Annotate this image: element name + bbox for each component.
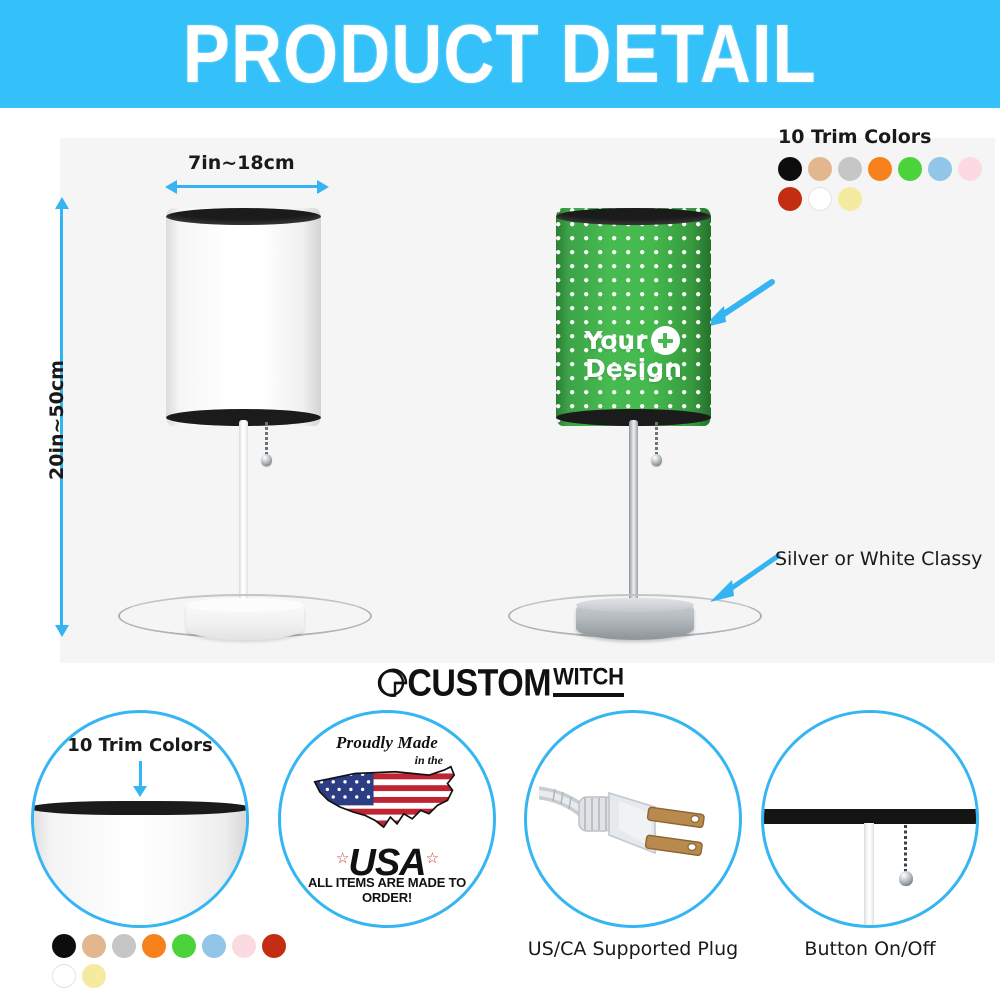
feature-plug: US/CA Supported Plug (518, 710, 748, 960)
height-dimension-label: 20in~50cm (46, 360, 68, 480)
feature-plug-caption: US/CA Supported Plug (518, 938, 748, 960)
bottom-swatch-dark-red[interactable] (262, 934, 286, 958)
trim-closeup-black-trim (31, 801, 249, 815)
pull-chain-ball-icon[interactable] (899, 871, 913, 886)
lamp-green-pull-chain[interactable] (655, 422, 658, 457)
lamp-green-design-line2: Design (556, 356, 711, 382)
product-detail-page: PRODUCT DETAIL 10 Trim Colors (0, 0, 1000, 1000)
bottom-swatch-black[interactable] (52, 934, 76, 958)
feature-made-in-usa-circle: Proudly Made in the (278, 710, 496, 928)
swatch-yellow[interactable] (838, 187, 862, 211)
brand-logo: CUSTOM WITCH (0, 660, 1000, 706)
swatch-dark-red[interactable] (778, 187, 802, 211)
feature-plug-circle (524, 710, 742, 928)
usa-flag-map-icon (303, 759, 471, 845)
swatch-light-blue[interactable] (928, 157, 952, 181)
swatch-green[interactable] (898, 157, 922, 181)
feature-made-in-usa: Proudly Made in the (272, 710, 502, 928)
feature-switch-caption: Button On/Off (755, 938, 985, 960)
brand-logo-primary: CUSTOM (407, 661, 551, 705)
feature-trim-colors-circle: 10 Trim Colors (31, 710, 249, 928)
usa-badge-line4: ALL ITEMS ARE MADE TO ORDER! (297, 875, 477, 905)
design-line1-text: Your (584, 326, 647, 355)
switch-closeup-black-trim (761, 809, 979, 824)
switch-closeup-pole (864, 823, 874, 928)
main-scene: 10 Trim Colors (0, 108, 1000, 660)
lamp-green-base-top (576, 598, 694, 612)
usa-badge: Proudly Made in the (297, 733, 477, 911)
brand-logo-secondary-wrap: WITCH (553, 664, 624, 697)
brand-logo-underline (553, 693, 624, 697)
trim-closeup-label: 10 Trim Colors (34, 735, 246, 756)
base-finish-label: Silver or White Classy (775, 548, 982, 570)
bottom-swatch-orange[interactable] (142, 934, 166, 958)
lamp-white-base-top (186, 598, 304, 612)
lamp-green-pull-chain-ball[interactable] (651, 454, 662, 466)
brand-logo-secondary: WITCH (553, 662, 624, 691)
trim-colors-title: 10 Trim Colors (778, 126, 993, 148)
swatch-gray[interactable] (838, 157, 862, 181)
feature-switch-circle (761, 710, 979, 928)
lamp-white-pull-chain[interactable] (265, 422, 268, 457)
feature-trim-colors: 10 Trim Colors (25, 710, 255, 928)
lamp-green-shade-surface (556, 208, 711, 426)
lamp-green-design-line1: Your (556, 326, 711, 355)
plus-circle-icon (651, 326, 680, 355)
lamp-white-shade (166, 208, 321, 426)
brand-logo-circle-c-icon (376, 666, 410, 700)
lamp-white-shade-surface (166, 208, 321, 426)
lamp-white-pull-chain-ball[interactable] (261, 454, 272, 466)
base-finish-callout-arrow (700, 548, 786, 608)
usa-star-right-icon: ☆ (426, 850, 438, 867)
us-power-plug-icon (539, 771, 729, 881)
trim-colors-panel: 10 Trim Colors (778, 126, 993, 211)
bottom-swatch-green[interactable] (172, 934, 196, 958)
feature-switch: Button On/Off (755, 710, 985, 960)
width-dimension-label: 7in~18cm (188, 152, 295, 174)
usa-badge-line1: Proudly Made (297, 733, 477, 753)
lamp-green-base (576, 598, 694, 640)
swatch-black[interactable] (778, 157, 802, 181)
lamp-green-pole (629, 420, 638, 610)
swatch-tan[interactable] (808, 157, 832, 181)
bottom-swatch-light-blue[interactable] (202, 934, 226, 958)
lamp-green-trim-top (556, 208, 711, 225)
usa-star-left-icon: ☆ (336, 850, 348, 867)
trim-colors-swatch-row (778, 157, 993, 211)
swatch-pink[interactable] (958, 157, 982, 181)
bottom-swatch-tan[interactable] (82, 934, 106, 958)
switch-closeup-shade (761, 713, 979, 813)
pull-chain-switch-icon[interactable] (904, 825, 907, 873)
bottom-swatch-white[interactable] (52, 964, 76, 988)
lamp-white-pole (239, 420, 248, 610)
swatch-orange[interactable] (868, 157, 892, 181)
bottom-swatch-yellow[interactable] (82, 964, 106, 988)
page-header: PRODUCT DETAIL (0, 0, 1000, 108)
swatch-white[interactable] (808, 187, 832, 211)
trim-closeup-shade (31, 809, 249, 928)
bottom-swatch-gray[interactable] (112, 934, 136, 958)
bottom-trim-colors-swatch-row (52, 934, 302, 988)
lamp-white-base (186, 598, 304, 640)
lamp-white-trim-top (166, 208, 321, 225)
lamp-green-shade: Your Design (556, 208, 711, 426)
width-dimension-arrow (176, 185, 318, 188)
bottom-swatch-pink[interactable] (232, 934, 256, 958)
page-title: PRODUCT DETAIL (183, 6, 817, 101)
features-row: 10 Trim Colors Proudly (0, 706, 1000, 1000)
trim-closeup-arrow-icon (139, 761, 142, 787)
